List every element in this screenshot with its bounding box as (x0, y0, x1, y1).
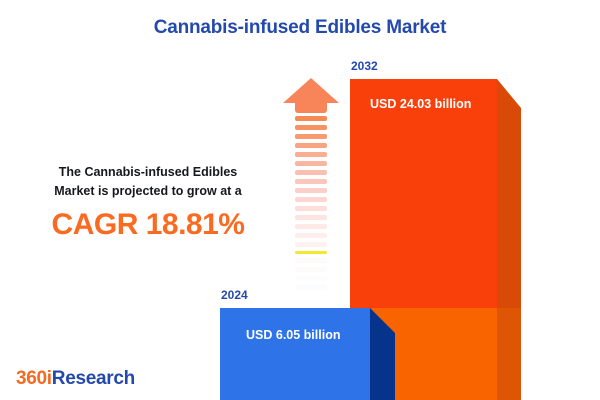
bar-2024-side-face (370, 308, 395, 400)
bar-2032-front-face (350, 79, 497, 308)
bar-label-2032: 2032 (351, 59, 378, 73)
bars-layer: 2032 USD 24.03 billion 2024 USD 6.05 bil… (0, 0, 600, 400)
bar-2032-value-label: USD 24.03 billion (370, 97, 471, 111)
logo-360i-text: 360i (16, 368, 52, 389)
bar-label-2024: 2024 (221, 288, 248, 302)
bar-2024-value-label: USD 6.05 billion (246, 328, 340, 342)
logo-research-text: Research (52, 368, 135, 389)
bar-2024-front-face (220, 308, 370, 400)
brand-logo[interactable]: 360iResearch (16, 368, 135, 390)
bar-2032-side-face-lower (497, 308, 521, 400)
market-infographic: Cannabis-infused Edibles Market The Cann… (0, 0, 600, 400)
bar-2024: USD 6.05 billion (220, 308, 395, 400)
